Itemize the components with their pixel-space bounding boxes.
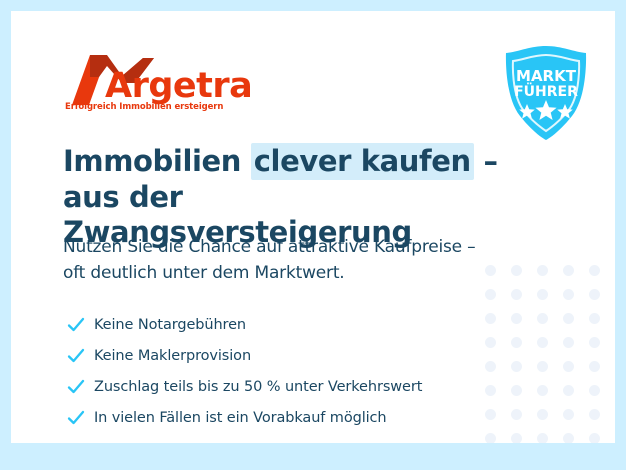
decorative-dot: [563, 337, 574, 348]
decorative-dot: [589, 409, 600, 420]
decorative-dot: [563, 313, 574, 324]
decorative-dot: [589, 337, 600, 348]
decorative-dot: [537, 361, 548, 372]
promo-card: Argetra Erfolgreich Immobilien ersteiger…: [11, 11, 615, 443]
decorative-dot: [563, 433, 574, 444]
decorative-dot: [589, 265, 600, 276]
decorative-dot: [537, 409, 548, 420]
decorative-dot: [485, 289, 496, 300]
headline-line1-before: Immobilien: [63, 144, 251, 178]
list-item-label: In vielen Fällen ist ein Vorabkauf mögli…: [94, 410, 387, 426]
logo-wordmark: Argetra: [105, 69, 252, 104]
decorative-dot: [563, 385, 574, 396]
list-item: Zuschlag teils bis zu 50 % unter Verkehr…: [66, 371, 516, 402]
decorative-dot: [511, 289, 522, 300]
subheading-line1: Nutzen Sie die Chance auf attraktive Kau…: [63, 235, 533, 261]
badge-line1: MARKT: [516, 67, 577, 85]
promo-banner: Argetra Erfolgreich Immobilien ersteiger…: [0, 0, 626, 470]
decorative-dot: [563, 361, 574, 372]
check-icon: [66, 346, 94, 366]
decorative-dot: [589, 313, 600, 324]
decorative-dot: [563, 409, 574, 420]
check-icon: [66, 408, 94, 428]
decorative-dot: [589, 433, 600, 444]
headline-highlight: clever kaufen: [251, 143, 474, 180]
decorative-dot: [537, 265, 548, 276]
list-item: In vielen Fällen ist ein Vorabkauf mögli…: [66, 402, 516, 433]
market-leader-badge: MARKT FÜHRER: [500, 44, 592, 144]
decorative-dot: [485, 433, 496, 444]
decorative-dot: [537, 385, 548, 396]
decorative-dot: [563, 289, 574, 300]
badge-line2: FÜHRER: [514, 82, 578, 100]
benefits-list: Keine NotargebührenKeine Maklerprovision…: [66, 309, 516, 433]
decorative-dot: [537, 433, 548, 444]
subheading: Nutzen Sie die Chance auf attraktive Kau…: [63, 235, 533, 286]
decorative-dot: [511, 433, 522, 444]
headline-line1-after: –: [474, 144, 498, 178]
list-item-label: Keine Maklerprovision: [94, 348, 251, 364]
check-icon: [66, 377, 94, 397]
logo-tagline: Erfolgreich Immobilien ersteigern: [65, 103, 223, 112]
list-item-label: Keine Notargebühren: [94, 317, 246, 333]
decorative-dot: [537, 289, 548, 300]
decorative-dot: [563, 265, 574, 276]
subheading-line2: oft deutlich unter dem Marktwert.: [63, 261, 533, 287]
decorative-dot: [589, 289, 600, 300]
check-icon: [66, 315, 94, 335]
list-item: Keine Notargebühren: [66, 309, 516, 340]
decorative-dot: [589, 385, 600, 396]
list-item-label: Zuschlag teils bis zu 50 % unter Verkehr…: [94, 379, 422, 395]
decorative-dot: [589, 361, 600, 372]
list-item: Keine Maklerprovision: [66, 340, 516, 371]
decorative-dot: [537, 337, 548, 348]
decorative-dot: [537, 313, 548, 324]
